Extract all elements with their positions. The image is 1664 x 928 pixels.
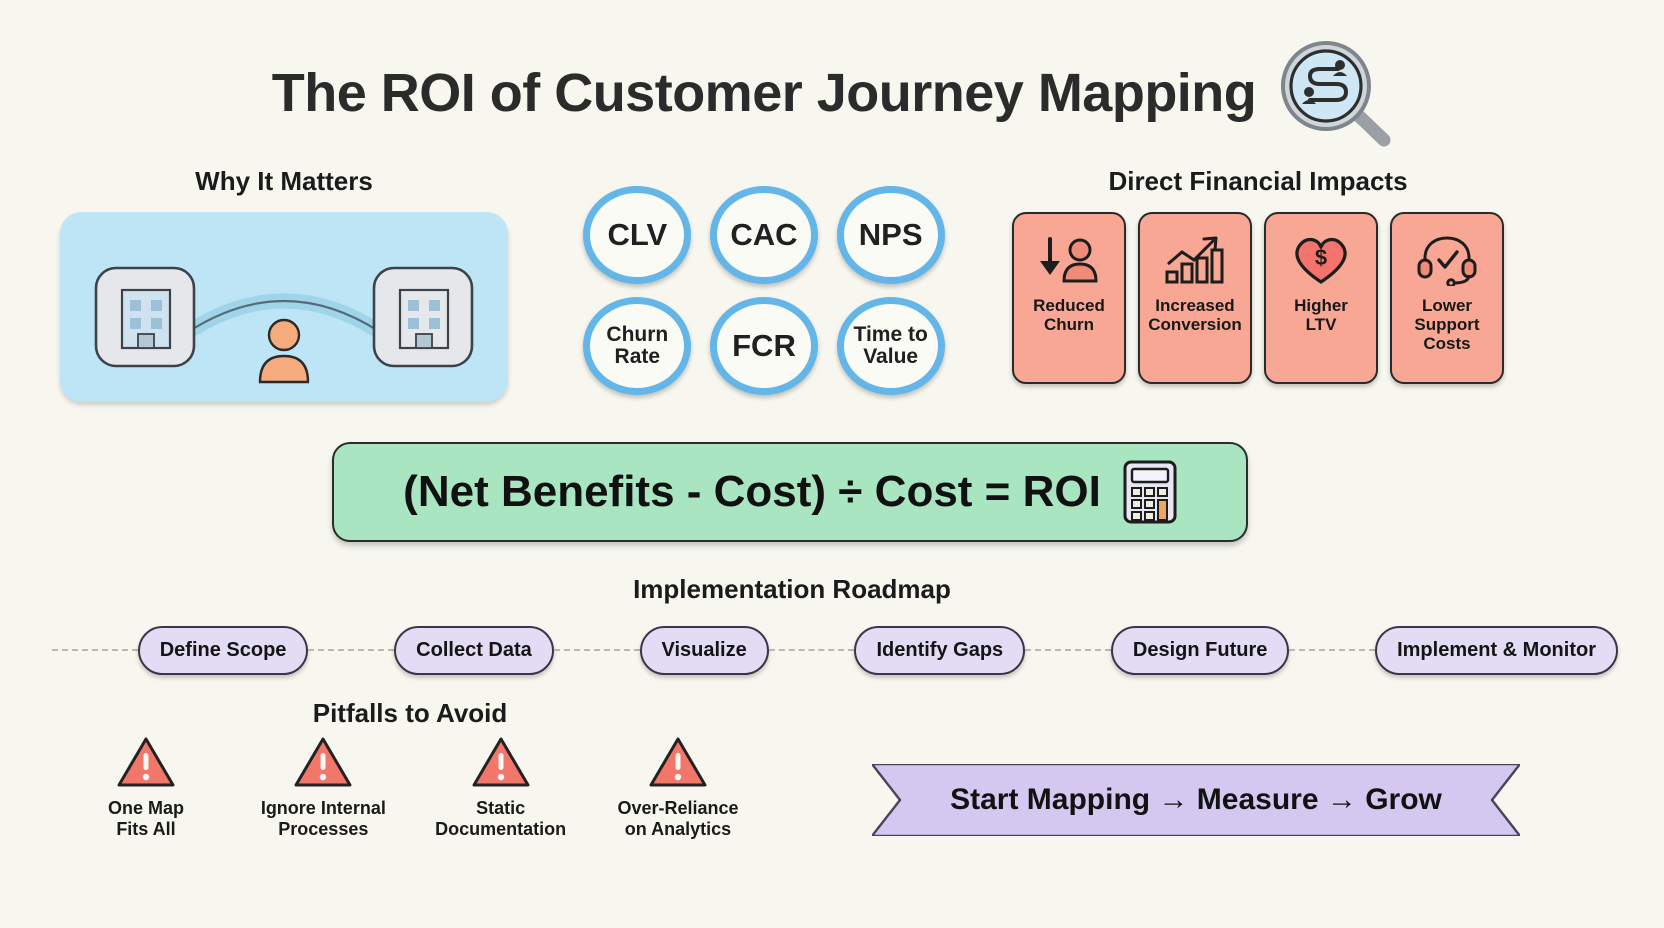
roadmap-connector	[52, 649, 138, 651]
roi-formula-banner: (Net Benefits - Cost) ÷ Cost = ROI	[332, 442, 1248, 542]
metric-circle-group: CLV CAC NPS Churn Rate FCR Time to Value	[578, 182, 950, 398]
impact-label: Lower Support Costs	[1414, 296, 1479, 353]
pitfall-over-reliance-on-analytics[interactable]: Over-Reliance on Analytics	[594, 736, 762, 840]
roadmap-heading: Implementation Roadmap	[432, 574, 1152, 605]
roadmap-step-define-scope[interactable]: Define Scope	[138, 626, 309, 675]
impacts-heading: Direct Financial Impacts	[1012, 166, 1504, 197]
impact-card-lower-support-costs[interactable]: Lower Support Costs	[1390, 212, 1504, 384]
pitfall-label: Ignore Internal Processes	[261, 798, 386, 840]
roadmap-connector	[554, 649, 640, 651]
roadmap-step-visualize[interactable]: Visualize	[640, 626, 769, 675]
bridge-diagram	[60, 212, 508, 402]
calculator-icon	[1123, 460, 1177, 524]
impact-card-higher-ltv[interactable]: $ Higher LTV	[1264, 212, 1378, 384]
metric-label: CLV	[607, 219, 667, 251]
metric-label: CAC	[730, 219, 797, 251]
arrow-down-person-icon	[1036, 232, 1102, 288]
page-title: The ROI of Customer Journey Mapping	[272, 62, 1257, 124]
metric-circle-time-to-value[interactable]: Time to Value	[837, 297, 945, 395]
roadmap-step-implement-monitor[interactable]: Implement & Monitor	[1375, 626, 1618, 675]
pitfall-one-map-fits-all[interactable]: One Map Fits All	[62, 736, 230, 840]
pitfall-label: One Map Fits All	[108, 798, 184, 840]
pitfall-label: Static Documentation	[435, 798, 566, 840]
headset-check-icon	[1416, 232, 1478, 288]
warning-triangle-icon	[294, 736, 352, 788]
impact-card-increased-conversion[interactable]: Increased Conversion	[1138, 212, 1252, 384]
why-it-matters-panel	[60, 212, 508, 402]
metric-circle-cac[interactable]: CAC	[710, 186, 818, 284]
metric-circle-churn-rate[interactable]: Churn Rate	[583, 297, 691, 395]
impact-label: Higher LTV	[1294, 296, 1348, 334]
pitfall-label: Over-Reliance on Analytics	[617, 798, 738, 840]
metric-circle-fcr[interactable]: FCR	[710, 297, 818, 395]
metric-circle-clv[interactable]: CLV	[583, 186, 691, 284]
title-row: The ROI of Customer Journey Mapping	[0, 38, 1664, 148]
cta-text: Start Mapping → Measure → Grow	[872, 764, 1520, 836]
metric-label: Time to Value	[854, 324, 928, 367]
metric-label: Churn Rate	[606, 324, 668, 367]
building-icon	[374, 268, 472, 366]
why-it-matters-heading: Why It Matters	[60, 166, 508, 197]
pitfall-group: One Map Fits All Ignore Internal Process…	[62, 736, 762, 840]
heart-dollar-icon: $	[1291, 232, 1351, 288]
pitfalls-heading: Pitfalls to Avoid	[110, 698, 710, 729]
bar-chart-up-icon	[1162, 232, 1228, 288]
roadmap-track: Define Scope Collect Data Visualize Iden…	[52, 622, 1618, 678]
warning-triangle-icon	[649, 736, 707, 788]
svg-text:$: $	[1315, 245, 1327, 270]
metric-circle-nps[interactable]: NPS	[837, 186, 945, 284]
impact-label: Increased Conversion	[1148, 296, 1242, 334]
roadmap-connector	[1289, 649, 1375, 651]
roadmap-step-design-future[interactable]: Design Future	[1111, 626, 1289, 675]
metric-label: FCR	[732, 330, 796, 362]
metric-label: NPS	[859, 219, 923, 251]
pitfall-ignore-internal-processes[interactable]: Ignore Internal Processes	[239, 736, 407, 840]
roi-formula-text: (Net Benefits - Cost) ÷ Cost = ROI	[403, 467, 1101, 517]
roadmap-connector	[1025, 649, 1111, 651]
person-icon	[260, 320, 308, 382]
impact-card-group: Reduced Churn Increased Conversion $	[1012, 212, 1504, 384]
pitfall-static-documentation[interactable]: Static Documentation	[417, 736, 585, 840]
cta-ribbon[interactable]: Start Mapping → Measure → Grow	[872, 764, 1520, 836]
warning-triangle-icon	[117, 736, 175, 788]
infographic-canvas: The ROI of Customer Journey Mapping Why …	[0, 0, 1664, 928]
impact-label: Reduced Churn	[1033, 296, 1105, 334]
roadmap-connector	[308, 649, 394, 651]
roadmap-connector	[769, 649, 855, 651]
impact-card-reduced-churn[interactable]: Reduced Churn	[1012, 212, 1126, 384]
building-icon	[96, 268, 194, 366]
warning-triangle-icon	[472, 736, 530, 788]
roadmap-step-identify-gaps[interactable]: Identify Gaps	[854, 626, 1025, 675]
magnifying-glass-journey-icon	[1274, 38, 1392, 148]
roadmap-step-collect-data[interactable]: Collect Data	[394, 626, 554, 675]
